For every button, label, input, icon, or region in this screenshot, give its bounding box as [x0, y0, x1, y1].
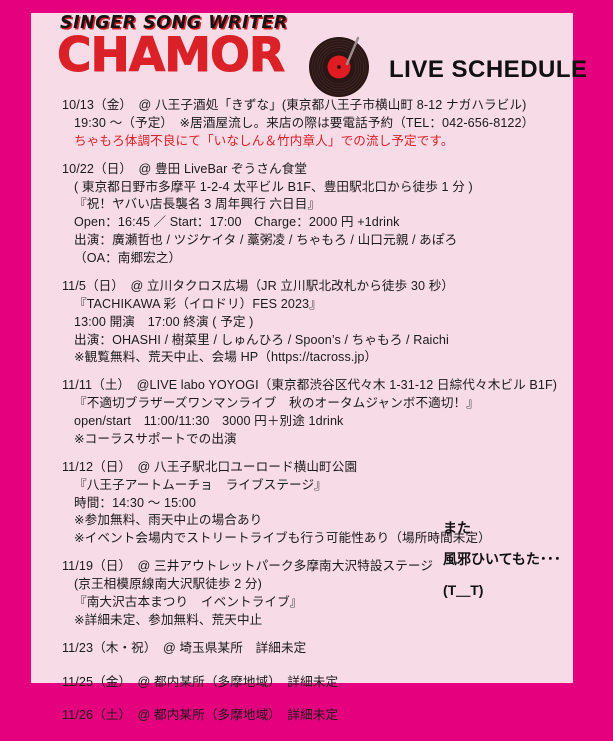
event-detail: ※コーラスサポートでの出演 — [31, 431, 573, 449]
brand-logo: SINGER SONG WRITER CHAMOR — [57, 15, 288, 78]
vinyl-record-icon — [308, 32, 374, 98]
side-note-line: (T＿T) — [443, 583, 593, 597]
event-heading: 11/26（土） @ 都内某所（多摩地域） 詳細未定 — [31, 707, 573, 725]
event-detail: 13:00 開演 17:00 終演 ( 予定 ) — [31, 314, 573, 332]
event-detail: 時間：14:30 〜 15:00 — [31, 495, 573, 513]
schedule-event: 11/25（金） @ 都内某所（多摩地域） 詳細未定 — [31, 674, 573, 692]
event-detail: 出演：廣瀬哲也 / ツジケイタ / 藁粥凌 / ちゃもろ / 山口元親 / あぽ… — [31, 232, 573, 250]
event-detail: 『八王子アートムーチョ ライブステージ』 — [31, 477, 573, 495]
poster-header: SINGER SONG WRITER CHAMOR LIVE SCHEDULE — [31, 13, 573, 95]
event-heading: 10/22（日） @ 豊田 LiveBar ぞうさん食堂 — [31, 161, 573, 179]
event-detail: Open：16:45 ／ Start：17:00 Charge：2000 円 +… — [31, 214, 573, 232]
live-schedule-poster: SINGER SONG WRITER CHAMOR LIVE SCHEDULE … — [0, 0, 613, 696]
schedule-event: 11/26（土） @ 都内某所（多摩地域） 詳細未定 — [31, 707, 573, 725]
event-detail: 出演：OHASHI / 樹菜里 / しゅんひろ / Spoon’s / ちゃもろ… — [31, 332, 573, 350]
event-detail: 『TACHIKAWA 彩（イロドリ）FES 2023』 — [31, 296, 573, 314]
schedule-event: 10/22（日） @ 豊田 LiveBar ぞうさん食堂( 東京都日野市多摩平 … — [31, 161, 573, 268]
schedule-event: 11/23（木・祝） @ 埼玉県某所 詳細未定 — [31, 640, 573, 658]
event-heading: 11/11（土） @LIVE labo YOYOGI（東京都渋谷区代々木 1-3… — [31, 377, 573, 395]
event-detail: 19:30 〜（予定） ※居酒屋流し。来店の際は要電話予約（TEL：042-65… — [31, 115, 573, 133]
event-heading: 10/13（金） @ 八王子酒処「きずな」(東京都八王子市横山町 8-12 ナガ… — [31, 97, 573, 115]
event-heading: 11/25（金） @ 都内某所（多摩地域） 詳細未定 — [31, 674, 573, 692]
page-title: LIVE SCHEDULE — [389, 56, 588, 84]
event-detail: open/start 11:00/11:30 3000 円＋別途 1drink — [31, 413, 573, 431]
schedule-event: 11/11（土） @LIVE labo YOYOGI（東京都渋谷区代々木 1-3… — [31, 377, 573, 449]
event-heading: 11/23（木・祝） @ 埼玉県某所 詳細未定 — [31, 640, 573, 658]
event-alert-note: ちゃもろ体調不良にて「いなしん＆竹内章人」での流し予定です。 — [31, 133, 573, 151]
event-detail: ※観覧無料、荒天中止、会場 HP（https://tacross.jp） — [31, 349, 573, 367]
brand-name: CHAMOR — [57, 34, 288, 78]
side-note-line: また — [443, 521, 593, 535]
schedule-event: 11/5（日） @ 立川タクロス広場（JR 立川駅北改札から徒歩 30 秒）『T… — [31, 278, 573, 367]
poster-inner-panel: SINGER SONG WRITER CHAMOR LIVE SCHEDULE … — [31, 13, 573, 683]
event-heading: 11/12（日） @ 八王子駅北口ユーロード横山町公園 — [31, 459, 573, 477]
event-detail: ( 東京都日野市多摩平 1-2-4 太平ビル B1F、豊田駅北口から徒歩 1 分… — [31, 179, 573, 197]
event-heading: 11/5（日） @ 立川タクロス広場（JR 立川駅北改札から徒歩 30 秒） — [31, 278, 573, 296]
schedule-list: 10/13（金） @ 八王子酒処「きずな」(東京都八王子市横山町 8-12 ナガ… — [31, 97, 573, 741]
schedule-event: 10/13（金） @ 八王子酒処「きずな」(東京都八王子市横山町 8-12 ナガ… — [31, 97, 573, 151]
event-detail: 『不適切ブラザーズワンマンライブ 秋のオータムジャンボ不適切！』 — [31, 395, 573, 413]
side-note-line: 風邪ひいてもた･･･ — [443, 552, 593, 566]
event-detail: （OA：南郷宏之） — [31, 250, 573, 268]
event-detail: ※詳細未定、参加無料、荒天中止 — [31, 612, 573, 630]
side-note: また風邪ひいてもた･･･(T＿T) — [443, 521, 593, 614]
event-detail: 『祝！ヤバい店長襲名 3 周年興行 六日目』 — [31, 196, 573, 214]
